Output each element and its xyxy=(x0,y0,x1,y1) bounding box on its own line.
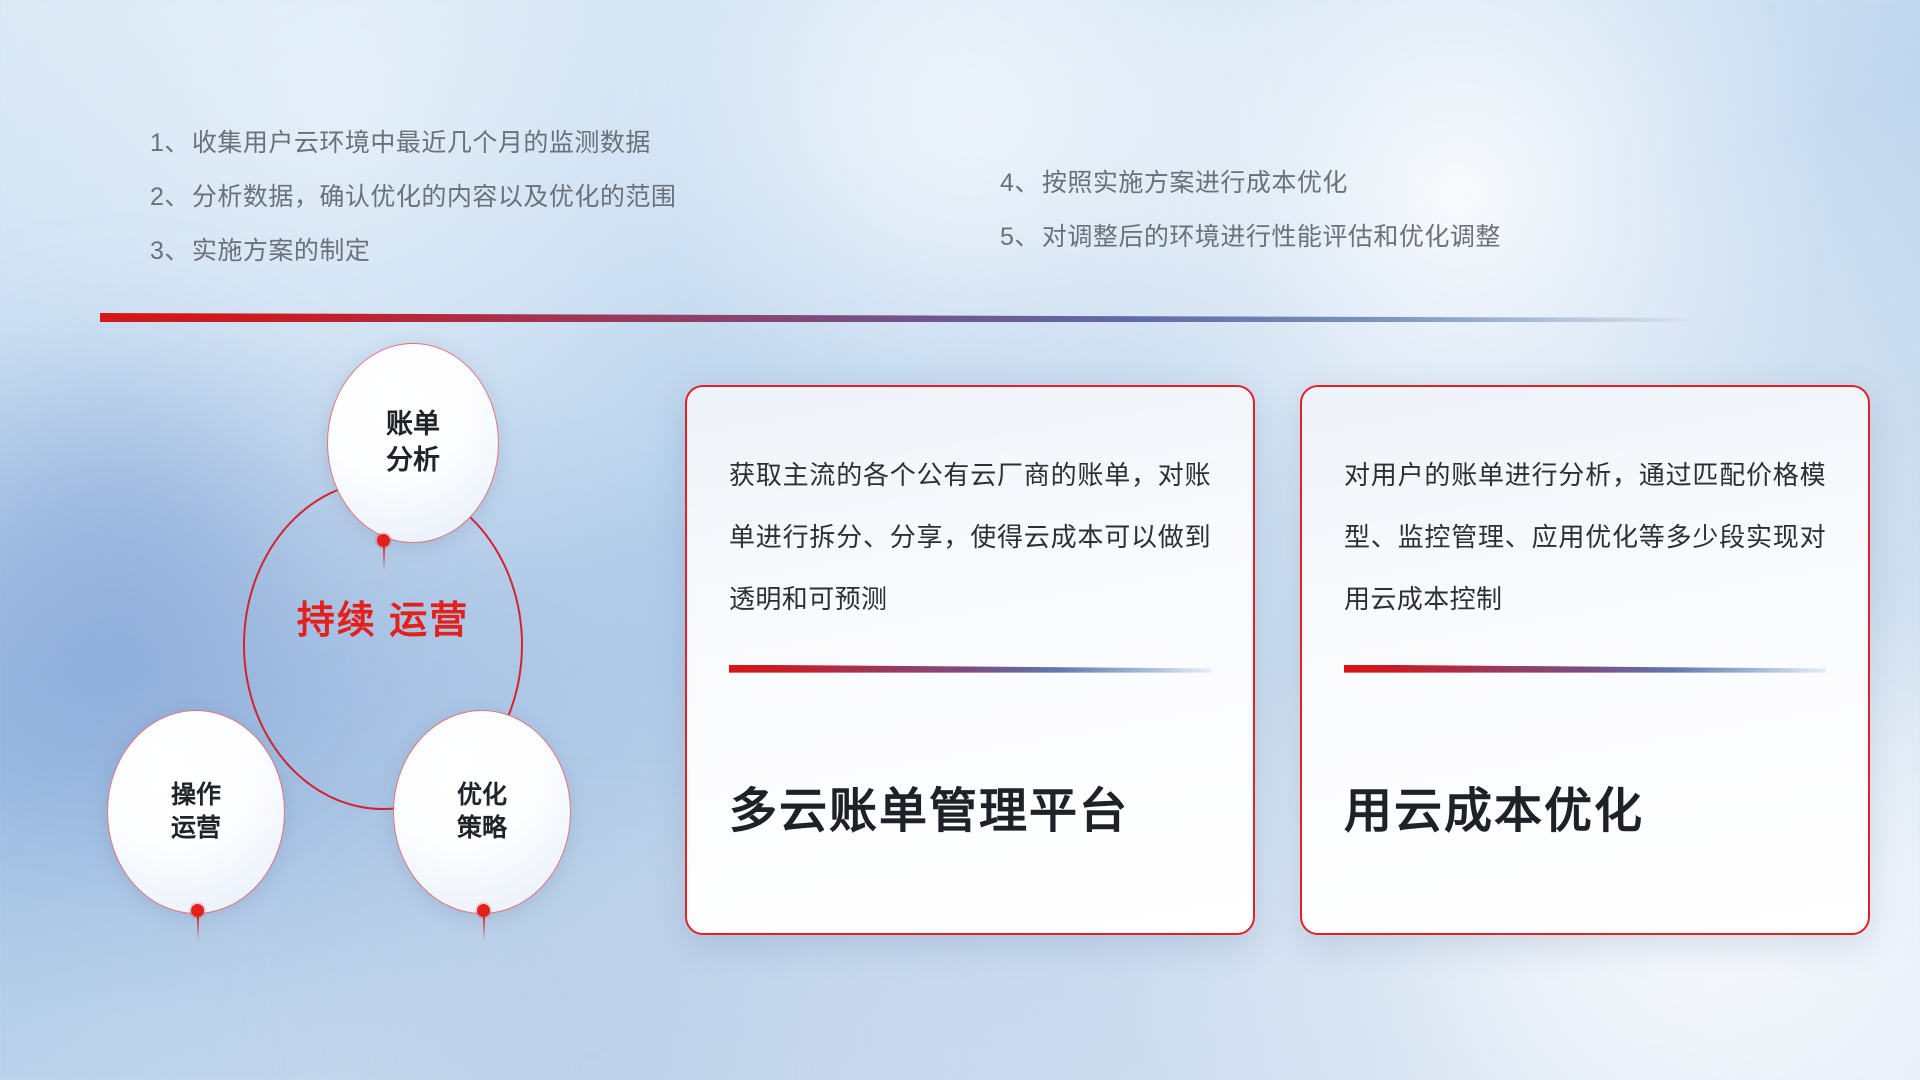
diagram-node-operations[interactable]: 操作 运营 xyxy=(107,710,285,914)
steps-column-right: 4、按照实施方案进行成本优化 5、对调整后的环境进行性能评估和优化调整 xyxy=(1000,156,1501,264)
diagram-node-bill-analysis-line-2: 分析 xyxy=(386,443,440,479)
step-number-2: 2、 xyxy=(150,183,190,211)
step-item-2: 2、分析数据，确认优化的内容以及优化的范围 xyxy=(150,170,676,224)
step-text-2: 分析数据，确认优化的内容以及优化的范围 xyxy=(192,183,677,211)
diagram-center-label: 持续 运营 xyxy=(283,598,483,644)
section-divider-bar xyxy=(100,313,1710,322)
section-divider xyxy=(100,313,1710,322)
diagram-node-bill-analysis[interactable]: 账单 分析 xyxy=(327,343,499,543)
card-multi-cloud-billing-divider-bar xyxy=(729,665,1211,673)
step-number-5: 5、 xyxy=(1000,223,1040,251)
diagram-tick-bottom-left xyxy=(197,915,199,941)
diagram-node-optimization-strategy-line-2: 策略 xyxy=(457,812,507,845)
continuous-operation-diagram: 持续 运营 账单 分析 操作 运营 优化 策略 xyxy=(95,355,565,915)
diagram-node-operations-line-2: 运营 xyxy=(171,812,221,845)
diagram-node-optimization-strategy-line-1: 优化 xyxy=(457,779,507,812)
card-multi-cloud-billing-divider xyxy=(729,665,1211,673)
step-number-1: 1、 xyxy=(150,129,190,157)
card-cloud-cost-optimization-divider xyxy=(1344,665,1826,673)
step-number-4: 4、 xyxy=(1000,169,1040,197)
step-item-5: 5、对调整后的环境进行性能评估和优化调整 xyxy=(1000,210,1501,264)
diagram-tick-bottom-right xyxy=(483,915,485,941)
card-multi-cloud-billing-title: 多云账单管理平台 xyxy=(729,771,1211,841)
card-multi-cloud-billing-body: 获取主流的各个公有云厂商的账单，对账单进行拆分、分享，使得云成本可以做到透明和可… xyxy=(729,445,1211,631)
card-cloud-cost-optimization-body: 对用户的账单进行分析，通过匹配价格模型、监控管理、应用优化等多少段实现对用云成本… xyxy=(1344,445,1826,631)
step-item-4: 4、按照实施方案进行成本优化 xyxy=(1000,156,1501,210)
steps-section: 1、收集用户云环境中最近几个月的监测数据 2、分析数据，确认优化的内容以及优化的… xyxy=(0,116,1920,296)
step-text-5: 对调整后的环境进行性能评估和优化调整 xyxy=(1042,223,1501,251)
step-item-3: 3、实施方案的制定 xyxy=(150,224,676,278)
step-item-1: 1、收集用户云环境中最近几个月的监测数据 xyxy=(150,116,676,170)
card-multi-cloud-billing[interactable]: 获取主流的各个公有云厂商的账单，对账单进行拆分、分享，使得云成本可以做到透明和可… xyxy=(685,385,1255,935)
step-text-4: 按照实施方案进行成本优化 xyxy=(1042,169,1348,197)
diagram-center-line-1: 持续 xyxy=(297,600,377,642)
card-cloud-cost-optimization[interactable]: 对用户的账单进行分析，通过匹配价格模型、监控管理、应用优化等多少段实现对用云成本… xyxy=(1300,385,1870,935)
diagram-tick-top xyxy=(383,545,385,571)
step-text-1: 收集用户云环境中最近几个月的监测数据 xyxy=(192,129,651,157)
card-cloud-cost-optimization-title: 用云成本优化 xyxy=(1344,771,1826,841)
card-cloud-cost-optimization-divider-bar xyxy=(1344,665,1826,673)
step-number-3: 3、 xyxy=(150,237,190,265)
step-text-3: 实施方案的制定 xyxy=(192,237,371,265)
diagram-node-operations-line-1: 操作 xyxy=(171,779,221,812)
diagram-node-bill-analysis-line-1: 账单 xyxy=(386,407,440,443)
diagram-center-line-2: 运营 xyxy=(389,600,469,642)
diagram-node-optimization-strategy[interactable]: 优化 策略 xyxy=(393,710,571,914)
steps-column-left: 1、收集用户云环境中最近几个月的监测数据 2、分析数据，确认优化的内容以及优化的… xyxy=(150,116,676,278)
